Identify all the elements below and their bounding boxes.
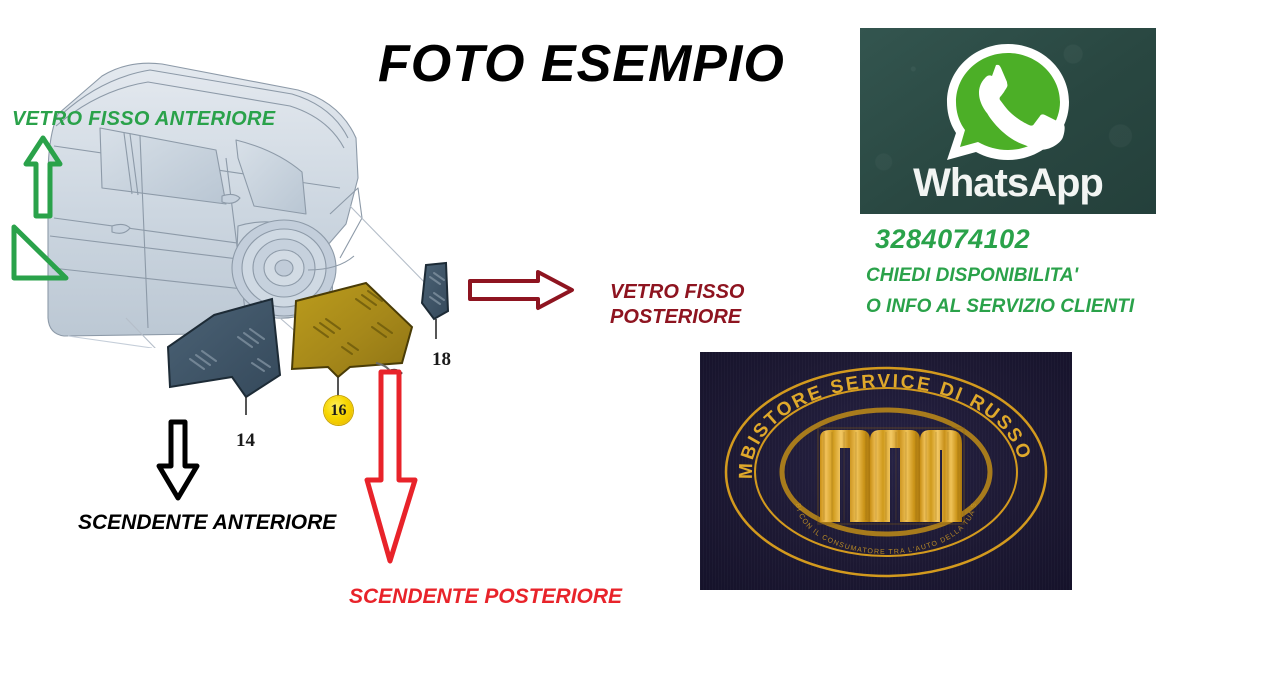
green-triangle-icon — [8, 222, 72, 284]
part-label-14: 14 — [236, 430, 255, 452]
red-down-arrow-icon — [363, 368, 419, 566]
phone-number: 3284074102 — [875, 224, 1030, 255]
dark-red-right-arrow-icon — [466, 268, 576, 312]
poster-canvas: FOTO ESEMPIO — [0, 0, 1264, 678]
whatsapp-wordmark: WhatsApp — [860, 161, 1156, 206]
glass-part-14 — [168, 299, 280, 415]
contact-line-info: O INFO AL SERVIZIO CLIENTI — [866, 296, 1134, 318]
part-badge-16: 16 — [324, 396, 353, 425]
callout-vetro-fisso-anteriore: VETRO FISSO ANTERIORE — [12, 108, 275, 131]
glass-part-18 — [422, 263, 448, 339]
part-label-18: 18 — [432, 349, 451, 371]
callout-scendente-anteriore: SCENDENTE ANTERIORE — [78, 511, 336, 535]
shop-logo-graphic: MRICAMBISTORE SERVICE DI RUSSO MARCO RIC… — [700, 352, 1072, 590]
callout-vetro-fisso-posteriore: VETRO FISSO POSTERIORE — [610, 280, 744, 330]
shop-logo-monogram — [818, 428, 964, 524]
black-down-arrow-icon — [155, 418, 201, 502]
whatsapp-icon — [939, 36, 1077, 168]
shop-logo-banner: MRICAMBISTORE SERVICE DI RUSSO MARCO RIC… — [700, 352, 1072, 590]
callout-scendente-posteriore: SCENDENTE POSTERIORE — [349, 585, 622, 609]
green-up-arrow-icon — [22, 134, 64, 220]
whatsapp-banner: WhatsApp — [860, 28, 1156, 214]
contact-line-chiedi: CHIEDI DISPONIBILITA' — [866, 265, 1078, 287]
